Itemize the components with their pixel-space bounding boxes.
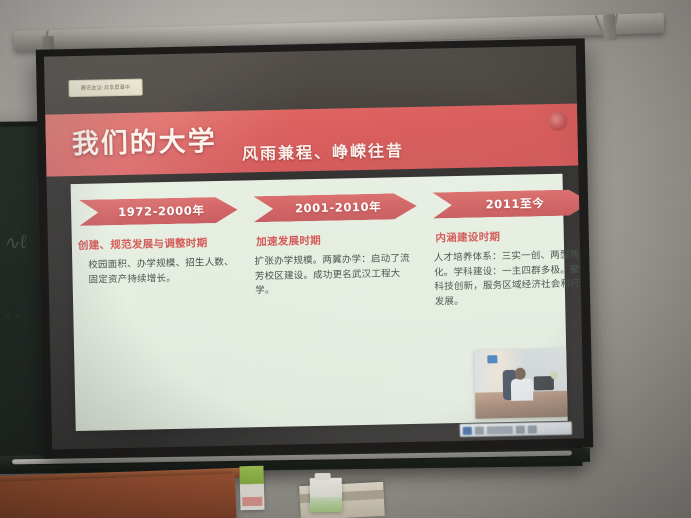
- camera-wall-sign: [487, 356, 497, 364]
- period-banner-label-1: 1972-2000年: [112, 202, 205, 220]
- taskbar-app-icon-1[interactable]: [475, 426, 484, 434]
- period-body-3: 人才培养体系：三实一创、两型两化。学科建设：一主四群多极。聚焦科技创新，服务区域…: [434, 248, 584, 310]
- taskbar-start-icon[interactable]: [463, 426, 472, 434]
- timeline-column-2: 2001-2010年 加速发展时期 扩张办学规模。两翼办学：启动了流芳校区建设。…: [245, 177, 429, 428]
- period-heading-1: 创建、规范发展与调整时期: [78, 235, 241, 253]
- taskbar-app-icon-2[interactable]: [487, 425, 513, 434]
- period-banner-3: 2011至今: [432, 189, 584, 218]
- chalk-marks-2: · ·: [6, 312, 22, 323]
- period-banner-2: 2001-2010年: [253, 193, 417, 222]
- green-chalk-box: [239, 466, 264, 511]
- taskbar-app-icon-3[interactable]: [516, 425, 525, 433]
- chalk-marks-1: ∿ℓ: [2, 230, 28, 256]
- white-eraser-box: [310, 478, 343, 513]
- slide-title: 我们的大学: [71, 119, 217, 161]
- camera-lamp: [550, 372, 557, 379]
- taskbar-app-icon-4[interactable]: [528, 425, 537, 433]
- timeline-column-1: 1972-2000年 创建、规范发展与调整时期 校园面积、办学规模、招生人数、固…: [71, 180, 250, 431]
- wooden-podium: [0, 474, 237, 518]
- slide-subtitle: 风雨兼程、峥嵘往昔: [242, 137, 404, 164]
- white-box-cap: [315, 473, 331, 480]
- period-heading-3: 内涵建设时期: [435, 227, 584, 245]
- green-box-label: [242, 497, 262, 507]
- camera-monitor: [534, 376, 554, 390]
- projected-desktop: 腾讯会议·共享屏幕中 我们的大学 风雨兼程、峥嵘往昔 1972-2000年 创建…: [44, 45, 584, 449]
- slide-title-band: 我们的大学 风雨兼程、峥嵘往昔: [45, 103, 578, 176]
- period-banner-label-3: 2011至今: [479, 195, 544, 212]
- period-banner-label-2: 2001-2010年: [289, 199, 382, 217]
- presenter-camera-feed[interactable]: [474, 349, 567, 419]
- screen-share-tooltip: 腾讯会议·共享屏幕中: [68, 79, 142, 98]
- windows-taskbar[interactable]: [460, 422, 572, 437]
- camera-person-body: [511, 378, 533, 400]
- period-heading-2: 加速发展时期: [256, 231, 420, 249]
- projector-screen: 腾讯会议·共享屏幕中 我们的大学 风雨兼程、峥嵘往昔 1972-2000年 创建…: [36, 38, 593, 458]
- period-body-2: 扩张办学规模。两翼办学：启动了流芳校区建设。成功更名武汉工程大学。: [254, 252, 418, 300]
- period-banner-1: 1972-2000年: [79, 197, 238, 226]
- period-body-1: 校园面积、办学规模、招生人数、固定资产持续增长。: [88, 256, 239, 289]
- classroom-scene: ∿ℓ · · 腾讯会议·共享屏幕中 我们的大学 风雨兼程、峥嵘往昔 1972-2…: [0, 0, 691, 518]
